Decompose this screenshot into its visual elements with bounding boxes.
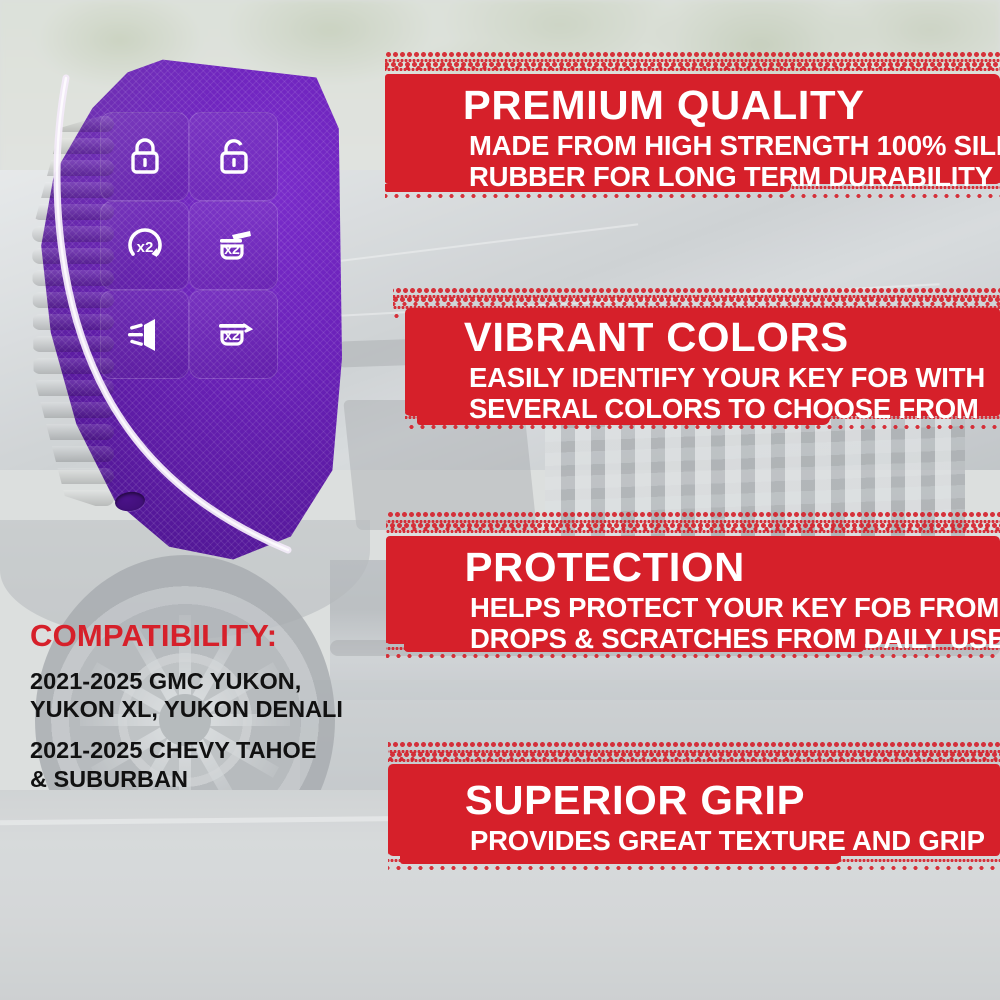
feature-banner-vibrant-colors: VIBRANT COLORS EASILY IDENTIFY YOUR KEY … xyxy=(393,288,1000,436)
compatibility-group: 2021-2025 CHEVY TAHOE & SUBURBAN xyxy=(30,736,370,792)
fob-button-lock[interactable] xyxy=(100,112,189,201)
feature-banner-premium-quality: PREMIUM QUALITY MADE FROM HIGH STRENGTH … xyxy=(385,52,1000,204)
feature-banner-protection: PROTECTION HELPS PROTECT YOUR KEY FOB FR… xyxy=(386,512,1000,664)
fob-button-pad: x2 x2 xyxy=(100,112,278,380)
banner-copy: VIBRANT COLORS EASILY IDENTIFY YOUR KEY … xyxy=(469,317,985,425)
compatibility-block: COMPATIBILITY: 2021-2025 GMC YUKON, YUKO… xyxy=(30,618,370,793)
banner-subtitle: EASILY IDENTIFY YOUR KEY FOB WITH SEVERA… xyxy=(469,363,985,425)
banner-title: PROTECTION xyxy=(465,547,1000,588)
fob-button-liftgate[interactable]: x2 xyxy=(189,201,278,290)
feature-banner-superior-grip: SUPERIOR GRIP PROVIDES GREAT TEXTURE AND… xyxy=(388,742,1000,878)
infographic-canvas: PREMIUM QUALITY MADE FROM HIGH STRENGTH … xyxy=(0,0,1000,1000)
lock-icon xyxy=(125,136,165,178)
banner-subtitle: HELPS PROTECT YOUR KEY FOB FROM DROPS & … xyxy=(470,593,1000,655)
liftgate-badge: x2 xyxy=(224,241,240,257)
remote-start-icon: x2 xyxy=(121,224,169,268)
key-fob-cover-product-image: x2 x2 xyxy=(22,52,342,562)
panic-alarm-icon xyxy=(122,315,168,355)
banner-title: SUPERIOR GRIP xyxy=(465,780,990,821)
fob-button-remote-start[interactable]: x2 xyxy=(100,201,189,290)
liftgate-glass-badge: x2 xyxy=(224,327,240,343)
compatibility-group: 2021-2025 GMC YUKON, YUKON XL, YUKON DEN… xyxy=(30,667,370,723)
banner-copy: PROTECTION HELPS PROTECT YOUR KEY FOB FR… xyxy=(470,547,1000,655)
unlock-icon xyxy=(214,136,254,178)
fob-button-panic-alarm[interactable] xyxy=(100,290,189,379)
liftgate-glass-icon: x2 xyxy=(210,314,258,356)
banner-title: VIBRANT COLORS xyxy=(464,317,990,358)
banner-subtitle: PROVIDES GREAT TEXTURE AND GRIP xyxy=(470,826,985,857)
banner-subtitle: MADE FROM HIGH STRENGTH 100% SILICONE RU… xyxy=(469,131,1000,193)
banner-copy: SUPERIOR GRIP PROVIDES GREAT TEXTURE AND… xyxy=(470,780,985,857)
fob-button-unlock[interactable] xyxy=(189,112,278,201)
banner-copy: PREMIUM QUALITY MADE FROM HIGH STRENGTH … xyxy=(469,85,1000,193)
remote-start-badge: x2 xyxy=(136,239,153,256)
liftgate-open-icon: x2 xyxy=(210,224,258,268)
compatibility-heading: COMPATIBILITY: xyxy=(30,618,370,654)
banner-title: PREMIUM QUALITY xyxy=(463,85,1000,126)
fob-button-liftgate-glass[interactable]: x2 xyxy=(189,290,278,379)
